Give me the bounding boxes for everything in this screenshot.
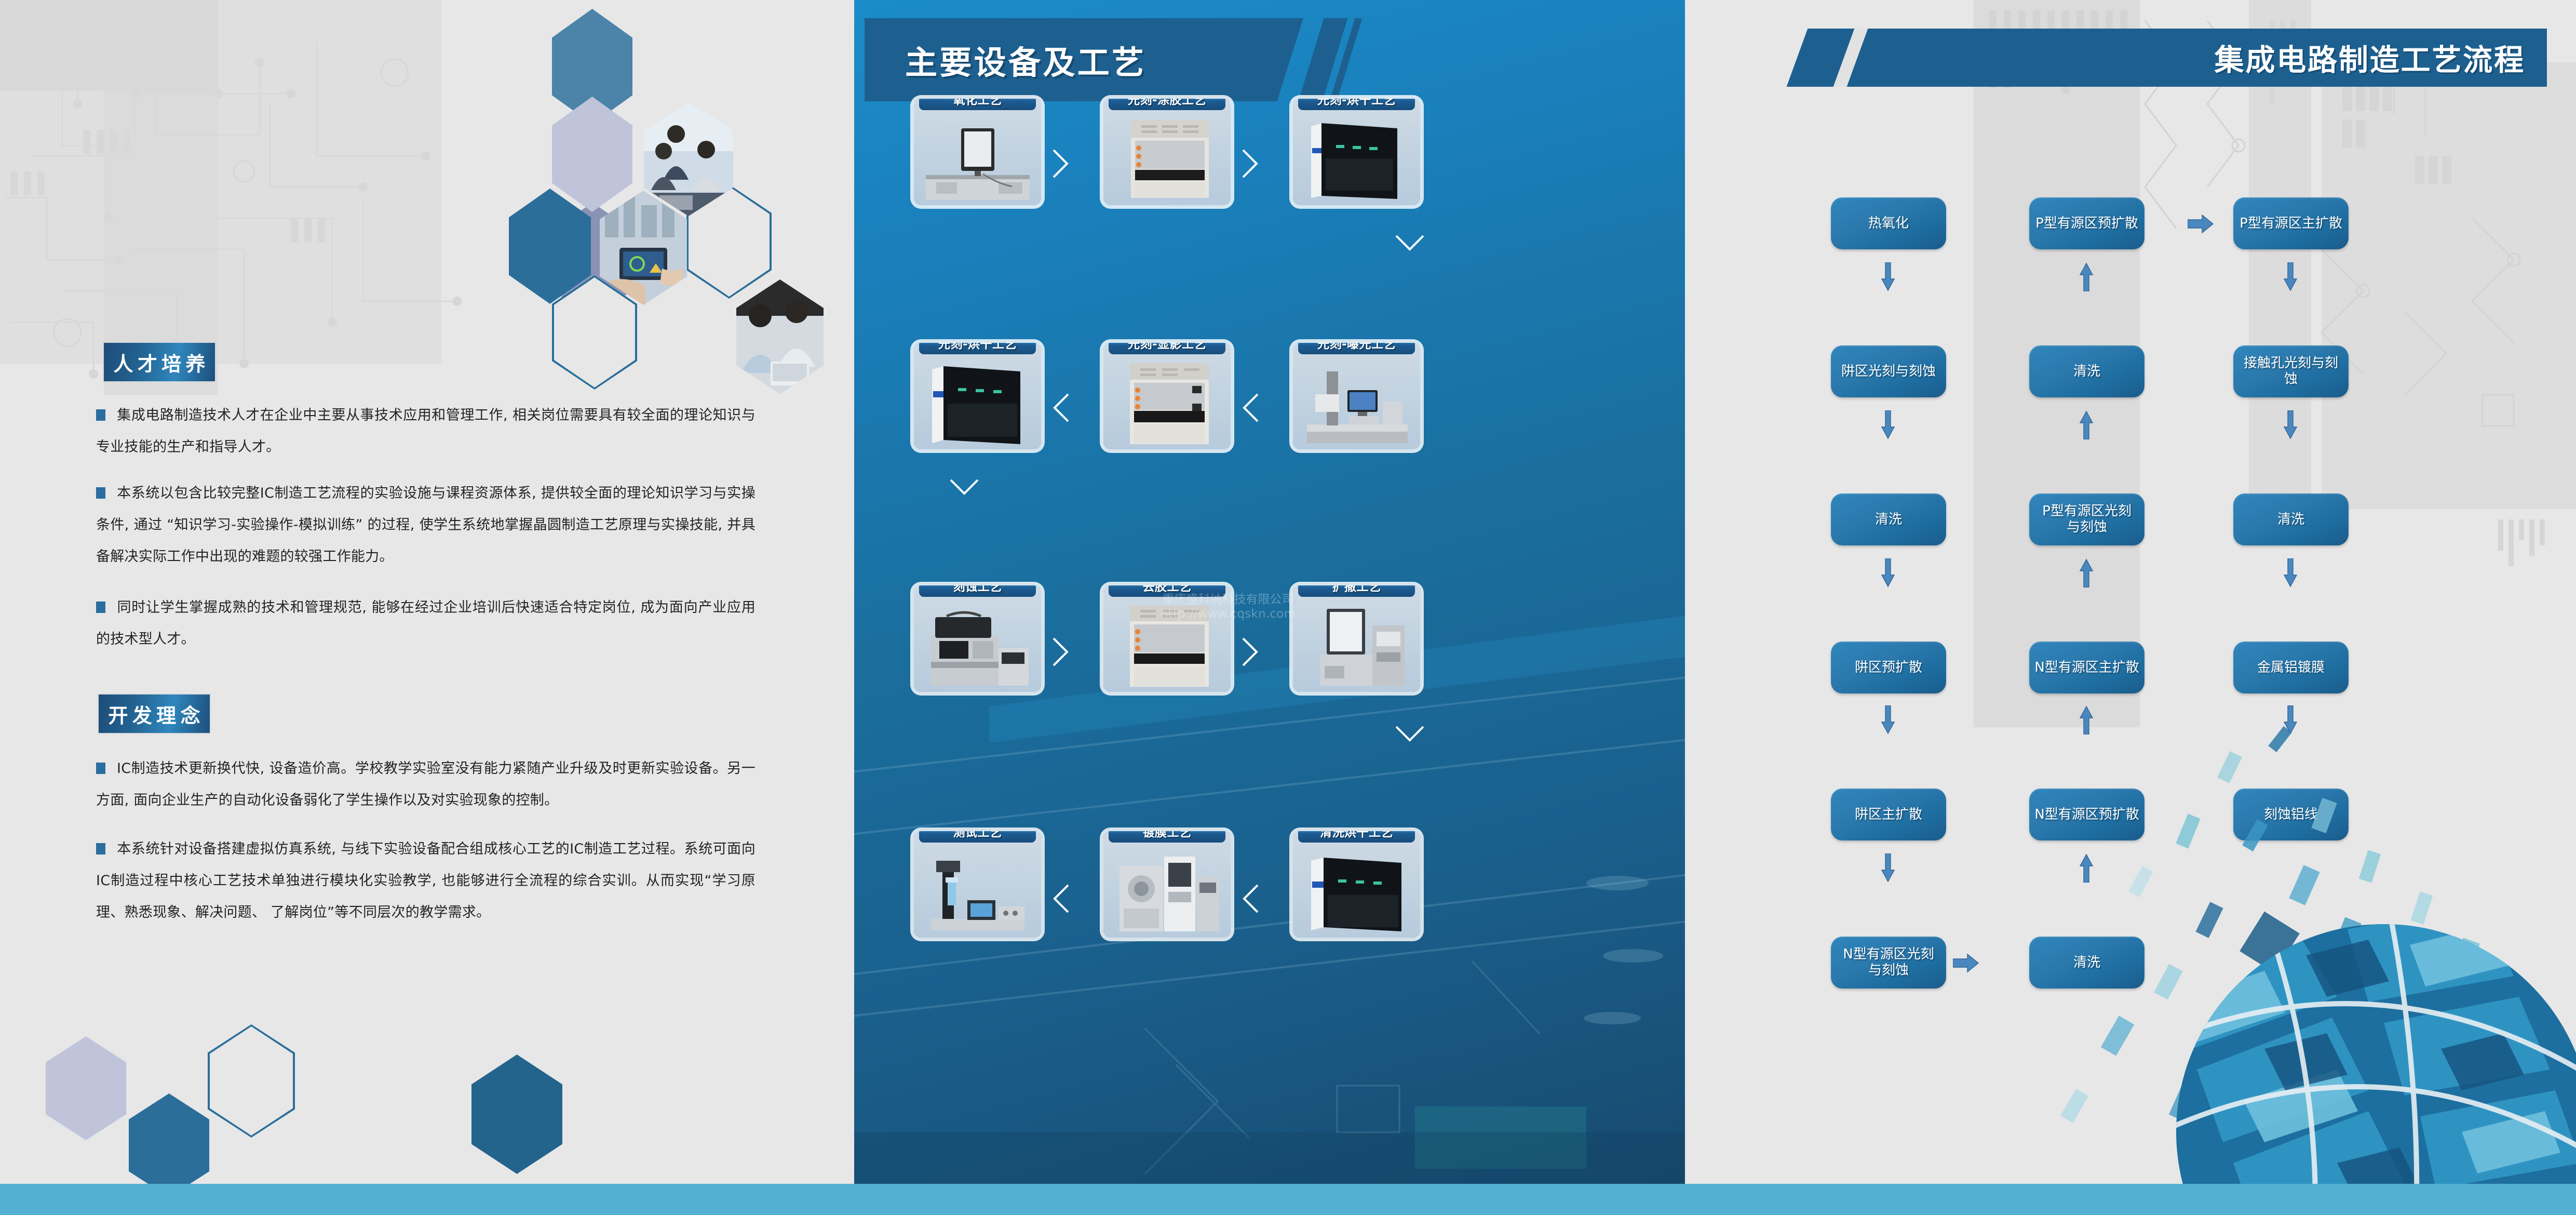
- hexagon-decor-gray-1: [552, 97, 632, 212]
- paragraph-talent-3: 同时让学生掌握成熟的技术和管理规范, 能够在经过企业培训后快速适合特定岗位, 成…: [96, 592, 756, 656]
- flow-box[interactable]: P型有源区预扩散: [2029, 197, 2145, 249]
- equipment-card[interactable]: 光刻-烘干工艺: [914, 343, 1041, 449]
- equipment-label: 测试工艺: [919, 831, 1036, 843]
- equipment-card[interactable]: 刻蚀工艺: [914, 585, 1041, 692]
- flow-box[interactable]: P型有源区主扩散: [2233, 197, 2349, 249]
- equipment-photo: [919, 603, 1036, 688]
- equipment-photo: [1298, 116, 1415, 201]
- hexagon-outline-decor-3: [208, 1024, 295, 1138]
- equipment-photo: [1109, 116, 1225, 201]
- flow-box[interactable]: 阱区主扩散: [1831, 789, 1946, 840]
- bullet-marker: [96, 843, 105, 854]
- arrow-left-icon: [1051, 883, 1070, 914]
- right-panel-title: 集成电路制造工艺流程: [2215, 36, 2526, 79]
- bullet-marker: [96, 409, 105, 421]
- equipment-photo: [1109, 849, 1225, 933]
- flow-box[interactable]: 热氧化: [1831, 197, 1946, 249]
- globe-swoosh-decor: [1974, 758, 2576, 1215]
- right-panel-header-bar: 集成电路制造工艺流程: [1845, 29, 2547, 87]
- equipment-photo: [1298, 603, 1415, 688]
- equipment-photo: [1109, 603, 1225, 688]
- flow-box[interactable]: N型有源区光刻 与刻蚀: [1831, 937, 1946, 989]
- equipment-label: 光刻-涂胶工艺: [1109, 99, 1225, 110]
- arrow-right-icon: [2188, 214, 2214, 234]
- arrow-up-icon: [2080, 262, 2093, 291]
- arrow-down-icon: [1881, 262, 1895, 291]
- arrow-down-icon: [2284, 558, 2297, 588]
- arrow-down-icon: [1394, 234, 1425, 255]
- mid-panel: 主要设备及工艺 氧化工艺 光刻-涂胶工艺: [854, 0, 1685, 1215]
- flow-box[interactable]: 清洗: [2029, 345, 2145, 397]
- section-title-talent: 人才培养: [103, 342, 216, 382]
- mid-panel-title: 主要设备及工艺: [905, 36, 1146, 83]
- arrow-down-icon: [1394, 725, 1425, 745]
- bullet-marker: [96, 487, 105, 499]
- equipment-label: 去胶工艺: [1109, 585, 1225, 597]
- equipment-photo: [919, 116, 1036, 201]
- arrow-down-icon: [1881, 853, 1895, 883]
- equipment-photo: [1298, 849, 1415, 933]
- arrow-right-icon: [1241, 148, 1260, 179]
- arrow-down-icon: [1881, 558, 1895, 588]
- flow-box[interactable]: P型有源区光刻 与刻蚀: [2029, 493, 2145, 545]
- right-panel: 集成电路制造工艺流程 热氧化 阱区光刻与刻蚀 清洗 阱区预扩散 阱区主扩散 N型…: [1714, 0, 2576, 1215]
- paragraph-concept-1: IC制造技术更新换代快, 设备造价高。学校教学实验室没有能力紧随产业升级及时更新…: [96, 753, 756, 817]
- mid-panel-header-bar: 主要设备及工艺: [865, 18, 1303, 101]
- arrow-down-icon: [1881, 705, 1895, 735]
- equipment-photo: [919, 361, 1036, 445]
- paragraph-concept-2: 本系统针对设备搭建虚拟仿真系统, 与线下实验设备配合组成核心工艺的IC制造工艺过…: [96, 834, 756, 928]
- panel-gap-right: [1685, 0, 1714, 1215]
- flow-box[interactable]: 清洗: [1831, 493, 1946, 545]
- paragraph-talent-2: 本系统以包含比较完整IC制造工艺流程的实验设施与课程资源体系, 提供较全面的理论…: [96, 478, 756, 572]
- arrow-right-icon: [1051, 636, 1070, 667]
- equipment-label: 光刻-烘干工艺: [919, 343, 1036, 354]
- section-title-concept: 开发理念: [98, 693, 211, 734]
- flow-box[interactable]: N型有源区主扩散: [2029, 642, 2145, 693]
- arrow-left-icon: [1241, 392, 1260, 423]
- arrow-down-icon: [949, 478, 980, 499]
- arrow-up-icon: [2080, 558, 2093, 588]
- equipment-label: 光刻-显影工艺: [1109, 343, 1225, 354]
- flow-box[interactable]: 金属铝镀膜: [2233, 642, 2349, 693]
- arrow-right-icon: [1051, 148, 1070, 179]
- equipment-card[interactable]: 镀膜工艺: [1103, 831, 1231, 938]
- equipment-photo: [1298, 361, 1415, 445]
- flow-box[interactable]: 阱区预扩散: [1831, 642, 1946, 693]
- equipment-label: 刻蚀工艺: [919, 585, 1036, 597]
- paragraph-talent-1: 集成电路制造技术人才在企业中主要从事技术应用和管理工作, 相关岗位需要具有较全面…: [96, 400, 756, 463]
- arrow-down-icon: [2284, 410, 2297, 439]
- equipment-card[interactable]: 光刻-烘干工艺: [1293, 99, 1420, 205]
- bottom-accent-bar: [0, 1184, 2576, 1215]
- arrow-right-icon: [1241, 636, 1260, 667]
- bullet-marker: [96, 763, 105, 774]
- bullet-marker: [96, 602, 105, 613]
- flow-box[interactable]: 阱区光刻与刻蚀: [1831, 345, 1946, 397]
- hexagon-decor-dark-2: [129, 1093, 209, 1197]
- equipment-card[interactable]: 光刻-涂胶工艺: [1103, 99, 1231, 205]
- hexagon-decor-dark-3: [471, 1054, 562, 1174]
- flow-box[interactable]: 接触孔光刻与刻蚀: [2233, 345, 2349, 397]
- arrow-down-icon: [2284, 262, 2297, 291]
- left-panel: 人才培养 集成电路制造技术人才在企业中主要从事技术应用和管理工作, 相关岗位需要…: [0, 0, 831, 1215]
- equipment-label: 清洗烘干工艺: [1298, 831, 1415, 843]
- equipment-photo: [919, 849, 1036, 933]
- arrow-down-icon: [1881, 410, 1895, 439]
- gray-block-decor-3: [104, 0, 218, 395]
- panel-gap-left: [831, 0, 854, 1215]
- equipment-label: 扩撒工艺: [1298, 585, 1415, 597]
- equipment-label: 镀膜工艺: [1109, 831, 1225, 843]
- equipment-card[interactable]: 光刻-曝光工艺: [1293, 343, 1420, 449]
- equipment-card[interactable]: 氧化工艺: [914, 99, 1041, 205]
- equipment-card[interactable]: 扩撒工艺: [1293, 585, 1420, 692]
- arrow-left-icon: [1241, 883, 1260, 914]
- arrow-up-icon: [2080, 410, 2093, 439]
- gray-block-decor-2: [0, 0, 441, 364]
- equipment-card[interactable]: 清洗烘干工艺: [1293, 831, 1420, 938]
- arrow-left-icon: [1051, 392, 1070, 423]
- hexagon-decor-light-3: [46, 1036, 126, 1140]
- equipment-label: 氧化工艺: [919, 99, 1036, 110]
- equipment-card[interactable]: 测试工艺: [914, 831, 1041, 938]
- equipment-photo: [1109, 361, 1225, 445]
- equipment-card[interactable]: 光刻-显影工艺: [1103, 343, 1231, 449]
- equipment-card[interactable]: 去胶工艺: [1103, 585, 1231, 692]
- flow-box[interactable]: 清洗: [2233, 493, 2349, 545]
- equipment-label: 光刻-烘干工艺: [1298, 99, 1415, 110]
- equipment-label: 光刻-曝光工艺: [1298, 343, 1415, 354]
- right-panel-bg-decor: [1885, 0, 2576, 727]
